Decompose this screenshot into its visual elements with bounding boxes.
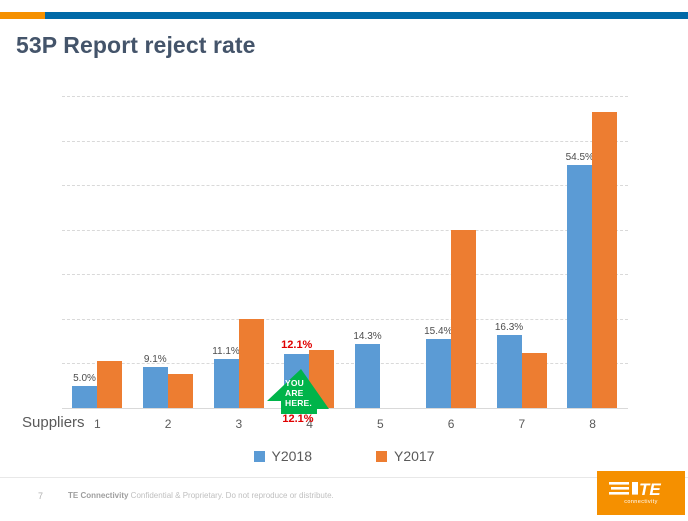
bar-group: 15.4%6 [416, 96, 487, 408]
chart-legend: Y2018Y2017 [0, 448, 688, 464]
bar-group: 9.1%2 [133, 96, 204, 408]
x-axis-tick-label: 5 [345, 417, 415, 431]
legend-item-Y2017[interactable]: Y2017 [376, 448, 434, 464]
bar-Y2018-6[interactable]: 15.4% [426, 339, 451, 408]
bar-data-label: 5.0% [73, 373, 96, 384]
callout-value-label: 12.1% [267, 413, 329, 425]
bar-data-label: 12.1% [281, 339, 312, 351]
bottom-strip [0, 515, 688, 521]
bar-Y2018-3[interactable]: 11.1% [214, 359, 239, 408]
bar-group: 12.1%4 [274, 96, 345, 408]
bar-group: 11.1%3 [204, 96, 275, 408]
bar-data-label: 11.1% [212, 346, 240, 357]
legend-label: Y2017 [394, 448, 434, 464]
gridline [62, 408, 628, 409]
footer-disclaimer: TE Connectivity Confidential & Proprieta… [68, 491, 334, 500]
bar-Y2018-8[interactable]: 54.5% [567, 165, 592, 408]
bar-Y2018-1[interactable]: 5.0% [72, 386, 97, 408]
legend-label: Y2018 [272, 448, 312, 464]
top-accent-bar [0, 12, 688, 19]
bar-Y2017-7[interactable] [522, 353, 547, 408]
callout-line-1: YOU [285, 378, 325, 388]
accent-segment-blue [45, 12, 688, 19]
bar-Y2017-6[interactable] [451, 230, 476, 408]
callout-line-2: ARE [285, 388, 325, 398]
x-axis-tick-label: 8 [558, 417, 628, 431]
bar-chart: 0.0%10.0%20.0%30.0%40.0%50.0%60.0%70.0% … [0, 82, 688, 422]
bar-Y2017-2[interactable] [168, 374, 193, 408]
bar-Y2017-8[interactable] [592, 112, 617, 408]
bar-data-label: 54.5% [566, 152, 594, 163]
bar-data-label: 9.1% [144, 354, 167, 365]
bar-data-label: 14.3% [353, 331, 381, 342]
bar-group: 5.0%1 [62, 96, 133, 408]
bar-Y2017-3[interactable] [239, 319, 264, 408]
x-axis-tick-label: 3 [204, 417, 274, 431]
callout-text: YOU ARE HERE. [285, 378, 325, 408]
callout-line-3: HERE. [285, 398, 325, 408]
svg-text:TE: TE [639, 480, 661, 498]
te-logo: TE connectivity [597, 471, 685, 515]
page-title: 53P Report reject rate [16, 32, 256, 59]
bar-data-label: 15.4% [424, 326, 452, 337]
x-axis-tick-label: 7 [487, 417, 557, 431]
bar-Y2017-1[interactable] [97, 361, 122, 408]
x-axis-tick-label: 2 [133, 417, 203, 431]
footer-brand: TE Connectivity [68, 491, 128, 500]
x-axis-title: Suppliers [22, 414, 85, 431]
bar-Y2018-5[interactable]: 14.3% [355, 344, 380, 408]
te-logo-mark-icon: TE [609, 480, 673, 498]
accent-segment-orange [0, 12, 45, 19]
bar-group: 16.3%7 [487, 96, 558, 408]
page-number: 7 [38, 491, 43, 501]
bar-group: 54.5%8 [557, 96, 628, 408]
legend-swatch-icon [254, 451, 265, 462]
bar-group: 14.3%5 [345, 96, 416, 408]
bar-Y2018-2[interactable]: 9.1% [143, 367, 168, 408]
x-axis-tick-label: 6 [416, 417, 486, 431]
legend-item-Y2018[interactable]: Y2018 [254, 448, 312, 464]
legend-swatch-icon [376, 451, 387, 462]
plot-area: 0.0%10.0%20.0%30.0%40.0%50.0%60.0%70.0% … [62, 96, 628, 408]
bar-Y2018-7[interactable]: 16.3% [497, 335, 522, 408]
you-are-here-callout: YOU ARE HERE. 12.1% [267, 369, 329, 414]
bar-data-label: 16.3% [495, 322, 523, 333]
footer-disclaimer-text: Confidential & Proprietary. Do not repro… [128, 491, 333, 500]
te-logo-subtext: connectivity [597, 499, 685, 505]
